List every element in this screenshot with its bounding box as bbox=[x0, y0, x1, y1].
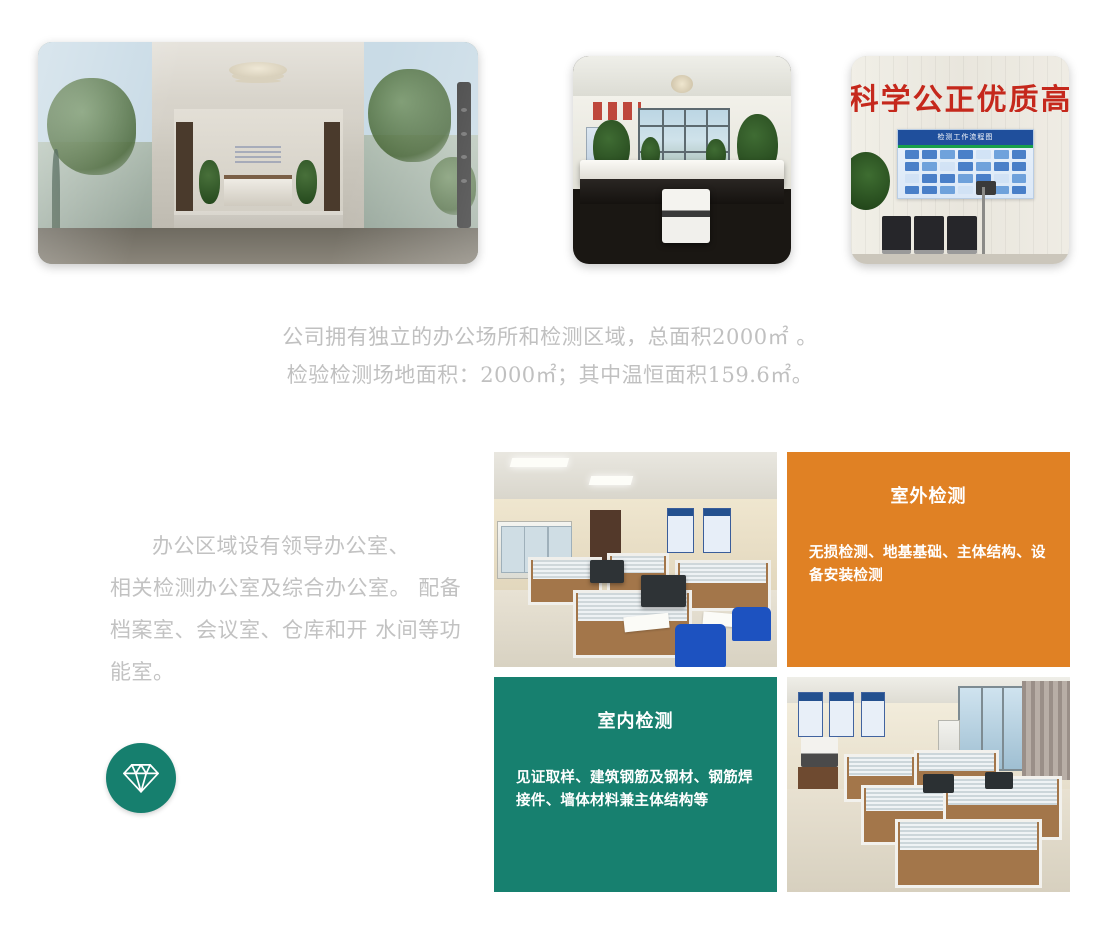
slogan-word-1: 科学 bbox=[851, 81, 913, 112]
office-cubicles-photo bbox=[787, 677, 1070, 892]
top-photo-row: 科学 公正 优质 高效 检测工作流程图 bbox=[0, 0, 1100, 300]
outdoor-inspection-card: 室外检测 无损检测、地基基础、主体结构、设备安装检测 bbox=[787, 452, 1070, 667]
lower-section: 办公区域设有领导办公室、 相关检测办公室及综合办公室。 配备档案室、会议室、仓库… bbox=[0, 440, 1100, 910]
slogan-word-2: 公正 bbox=[913, 81, 977, 112]
slogan-word-3: 优质 bbox=[977, 81, 1041, 112]
intro-paragraph: 公司拥有独立的办公场所和检测区域，总面积2000㎡ 。 检验检测场地面积：200… bbox=[0, 318, 1100, 394]
slogan-word-4: 高效 bbox=[1041, 81, 1069, 112]
waiting-chairs bbox=[882, 216, 978, 253]
intro-line-1: 公司拥有独立的办公场所和检测区域，总面积2000㎡ 。 bbox=[0, 318, 1100, 356]
office-description-text: 办公区域设有领导办公室、 相关检测办公室及综合办公室。 配备档案室、会议室、仓库… bbox=[110, 525, 470, 693]
diamond-badge bbox=[106, 743, 176, 813]
workflow-poster-title: 检测工作流程图 bbox=[937, 132, 993, 142]
outdoor-card-body: 无损检测、地基基础、主体结构、设备安装检测 bbox=[809, 542, 1048, 588]
wall-red-characters bbox=[593, 102, 641, 121]
indoor-card-title: 室内检测 bbox=[516, 707, 755, 733]
office-description-line-2: 相关检测办公室及综合办公室。 bbox=[110, 576, 411, 600]
printer bbox=[662, 189, 710, 243]
reception-counter-room-photo bbox=[573, 56, 791, 264]
company-lobby-entrance-photo bbox=[38, 42, 478, 264]
indoor-inspection-card: 室内检测 见证取样、建筑钢筋及钢材、钢筋焊接件、墙体材料兼主体结构等 bbox=[494, 677, 777, 892]
diamond-icon bbox=[120, 757, 162, 799]
services-grid: 室外检测 无损检测、地基基础、主体结构、设备安装检测 室内检测 见证取样、建筑钢… bbox=[494, 452, 1070, 892]
intro-line-2: 检验检测场地面积：2000㎡；其中温恒面积159.6㎡。 bbox=[0, 356, 1100, 394]
wall-slogan-text: 科学 公正 优质 高效 bbox=[851, 81, 1069, 112]
slogan-wall-photo: 科学 公正 优质 高效 检测工作流程图 bbox=[851, 56, 1069, 264]
workflow-poster: 检测工作流程图 bbox=[897, 129, 1034, 200]
office-description-line-1: 办公区域设有领导办公室、 bbox=[110, 525, 470, 567]
indoor-card-body: 见证取样、建筑钢筋及钢材、钢筋焊接件、墙体材料兼主体结构等 bbox=[516, 767, 755, 813]
open-plan-office-photo bbox=[494, 452, 777, 667]
outdoor-card-title: 室外检测 bbox=[809, 482, 1048, 508]
page-root: 科学 公正 优质 高效 检测工作流程图 bbox=[0, 0, 1100, 927]
